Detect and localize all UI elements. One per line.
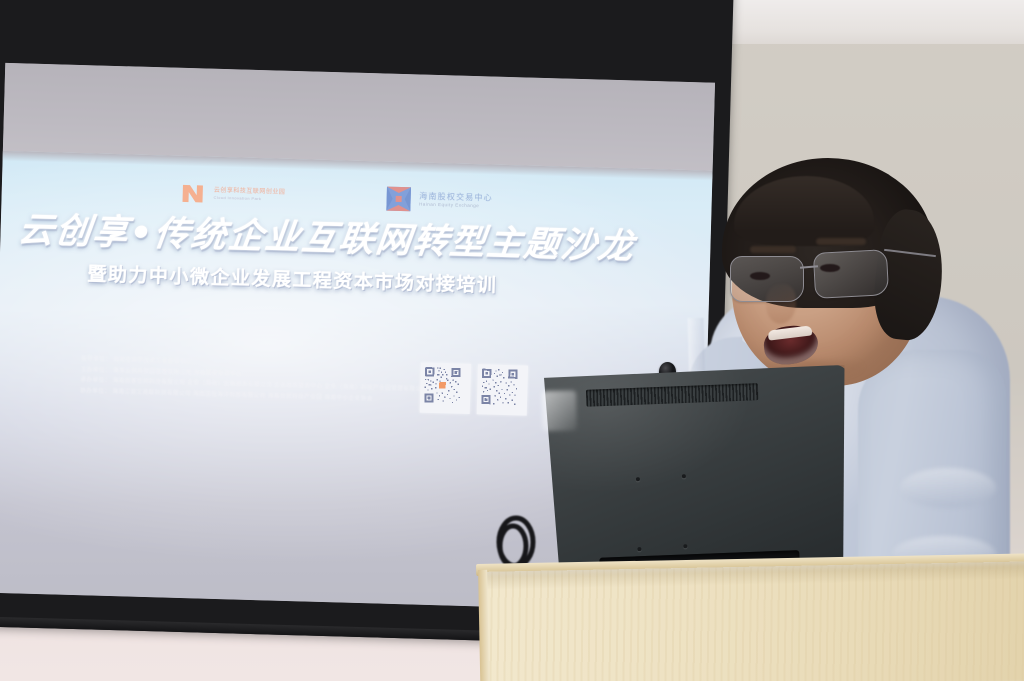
sleeve-fold bbox=[900, 468, 996, 508]
vesa-hole bbox=[682, 474, 686, 478]
slide-subtitle: 暨助力中小微企业发展工程资本市场对接培训 bbox=[87, 265, 647, 300]
hainan-logo-text: 海南股权交易中心 Hainan Equity Exchange bbox=[419, 192, 493, 209]
monitor-highlight bbox=[542, 390, 577, 431]
slide-logo-row: 云创享科技互联网创业园 Cloud Innovation Park bbox=[179, 180, 493, 215]
letter-n-icon bbox=[179, 180, 206, 207]
conference-photo-scene: 云创享科技互联网创业园 Cloud Innovation Park bbox=[0, 0, 1024, 681]
qr-code-icon bbox=[420, 363, 471, 414]
vesa-hole bbox=[683, 544, 687, 548]
slide-credits: 指导单位： 海南省科学技术工业信息化厅 主办单位： 海南云创科技园管理有限公司 … bbox=[80, 357, 428, 404]
hainan-logo-en: Hainan Equity Exchange bbox=[419, 202, 493, 209]
qr-code-icon bbox=[477, 364, 528, 415]
nanhai-logo-text: 云创享科技互联网创业园 Cloud Innovation Park bbox=[214, 188, 286, 202]
hainan-equity-exchange-logo: 海南股权交易中心 Hainan Equity Exchange bbox=[385, 186, 493, 215]
nanhai-logo-en: Cloud Innovation Park bbox=[214, 196, 286, 202]
vesa-hole bbox=[637, 547, 641, 551]
speaker-eye-right bbox=[820, 264, 840, 272]
slide-qr-codes bbox=[420, 363, 528, 416]
slide-title: 云创享•传统企业互联网转型主题沙龙 bbox=[17, 213, 661, 266]
glasses-lens-left bbox=[730, 256, 804, 302]
hainan-logo-cn: 海南股权交易中心 bbox=[419, 192, 493, 202]
speaker-eye-left bbox=[750, 272, 770, 280]
glasses-lens-right bbox=[813, 249, 889, 299]
diamond-emblem-icon bbox=[385, 186, 412, 213]
vesa-hole bbox=[636, 477, 640, 481]
speaker-eyebrow-right bbox=[816, 238, 866, 245]
nanhai-logo: 云创享科技互联网创业园 Cloud Innovation Park bbox=[179, 180, 285, 209]
podium bbox=[476, 553, 1024, 680]
